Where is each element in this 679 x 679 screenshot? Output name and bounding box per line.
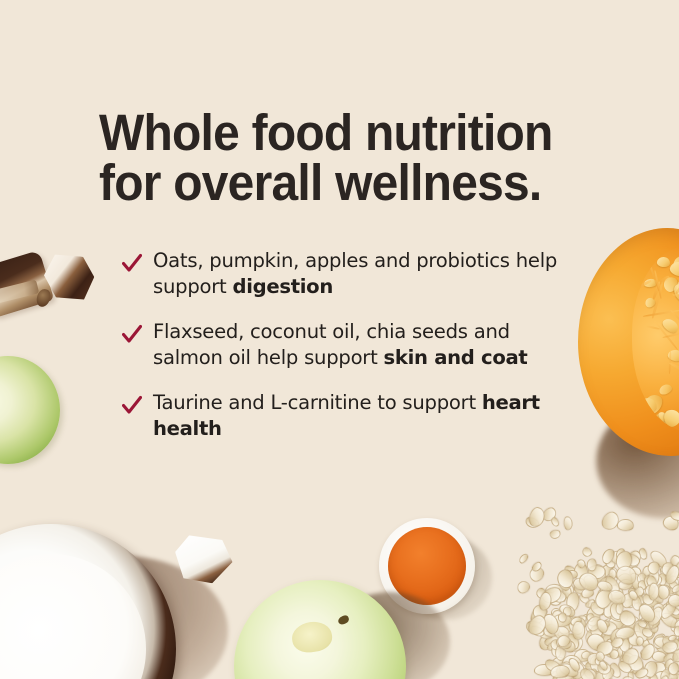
list-item-text: Taurine and L-carnitine to support heart… [153,390,573,442]
list-item: Oats, pumpkin, apples and probiotics hel… [122,248,582,300]
check-icon [122,395,142,417]
benefits-list: Oats, pumpkin, apples and probiotics hel… [122,248,582,442]
list-item-text: Oats, pumpkin, apples and probiotics hel… [153,248,573,300]
list-item-text: Flaxseed, coconut oil, chia seeds and sa… [153,319,573,371]
list-item-text-emphasis: skin and coat [384,346,528,369]
page-title: Whole food nutrition for overall wellnes… [99,108,569,207]
list-item: Taurine and L-carnitine to support heart… [122,390,582,442]
check-icon [122,324,142,346]
check-icon [122,253,142,275]
content-layer: Whole food nutrition for overall wellnes… [0,0,679,679]
list-item-text-normal: Oats, pumpkin, apples and probiotics hel… [153,249,557,298]
promo-image-canvas: Whole food nutrition for overall wellnes… [0,0,679,679]
list-item: Flaxseed, coconut oil, chia seeds and sa… [122,319,582,371]
list-item-text-normal: Taurine and L-carnitine to support [153,391,482,414]
list-item-text-emphasis: digestion [232,275,333,298]
